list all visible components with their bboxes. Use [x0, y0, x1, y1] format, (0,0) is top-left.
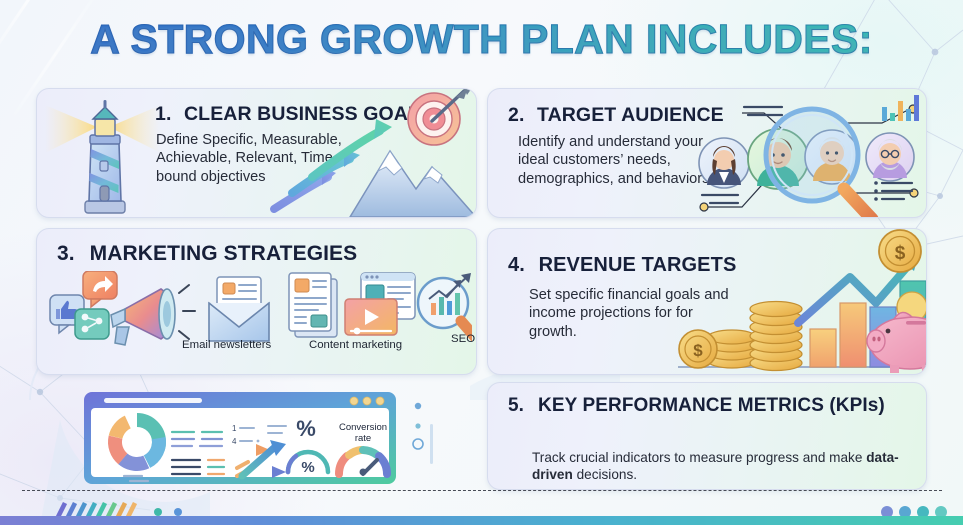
- megaphone-icon: [111, 285, 195, 345]
- magnifying-glass-icon: [766, 109, 872, 218]
- list-number: 4: [232, 437, 237, 446]
- light-streak: [759, 0, 924, 11]
- card-key-performance-metrics[interactable]: 5.KEY PERFORMANCE METRICS (KPIs) Track c…: [487, 382, 927, 490]
- card-4-title: REVENUE TARGETS: [539, 254, 737, 276]
- reply-arrow-icon: [83, 271, 117, 307]
- card-2-number: 2.: [508, 104, 524, 126]
- label-content-marketing: Content marketing: [309, 339, 402, 351]
- card-1-heading: 1. CLEAR BUSINESS GOALS: [155, 103, 433, 126]
- documents-icon: [289, 273, 337, 337]
- card-2-title: TARGET AUDIENCE: [537, 104, 724, 126]
- share-icon: [75, 309, 109, 339]
- bar-chart-icon: [882, 95, 919, 121]
- card-5-body-pre: Track crucial indicators to measure prog…: [532, 450, 866, 465]
- svg-text:%: %: [296, 416, 316, 441]
- dollar-coin-icon: $: [879, 230, 921, 272]
- percent-icon: %: [296, 416, 316, 441]
- card-1-body: Define Specific, Measurable, Achievable,…: [156, 131, 356, 186]
- conversion-rate-label-line2: rate: [355, 433, 371, 444]
- footer-divider: [22, 490, 942, 491]
- card-4-body: Set specific financial goals and income …: [529, 286, 734, 341]
- thumbs-up-icon: [50, 295, 84, 333]
- svg-text:$: $: [895, 243, 906, 264]
- svg-text:%: %: [301, 459, 314, 476]
- card-1-title: CLEAR BUSINESS GOALS: [184, 103, 433, 125]
- infographic-canvas: A STRONG GROWTH PLAN INCLUDES:: [0, 0, 963, 525]
- card-3-number: 3.: [57, 242, 75, 265]
- label-email-newsletters: Email newsletters: [182, 339, 271, 351]
- card-3-heading: 3. MARKETING STRATEGIES: [57, 242, 357, 266]
- label-seo: SEO: [451, 333, 475, 345]
- card-revenue-targets[interactable]: 4. REVENUE TARGETS Set specific financia…: [487, 228, 927, 375]
- card-target-audience[interactable]: 2. TARGET AUDIENCE Identify and understa…: [487, 88, 927, 218]
- conversion-rate-label-line1: Conversion: [339, 422, 387, 433]
- card-5-body: Track crucial indicators to measure prog…: [532, 449, 927, 483]
- card-5-number: 5.: [508, 395, 524, 416]
- card-4-number: 4.: [508, 254, 525, 276]
- decor-dots: [415, 403, 421, 429]
- card-3-title: MARKETING STRATEGIES: [90, 242, 358, 265]
- card-5-title: KEY PERFORMANCE METRICS (KPIs): [538, 395, 885, 416]
- dashboard-illustration: 1 4 % % Conversion rate: [82, 388, 442, 492]
- envelope-icon: [209, 277, 269, 341]
- title-container: A STRONG GROWTH PLAN INCLUDES:: [0, 16, 963, 63]
- card-5-heading: 5.KEY PERFORMANCE METRICS (KPIs): [508, 395, 918, 418]
- svg-text:$: $: [693, 341, 703, 360]
- piggy-bank-icon: [867, 292, 927, 373]
- card-5-body-post: decisions.: [573, 467, 637, 482]
- page-title: A STRONG GROWTH PLAN INCLUDES:: [90, 16, 873, 63]
- lighthouse-icon: [43, 91, 163, 218]
- seo-magnifier-icon: [418, 273, 472, 337]
- card-marketing-strategies[interactable]: 3. MARKETING STRATEGIES: [36, 228, 477, 375]
- card-2-heading: 2. TARGET AUDIENCE: [508, 104, 724, 127]
- card-2-body: Identify and understand your ideal custo…: [518, 133, 718, 188]
- video-player-icon: [345, 273, 415, 335]
- card-clear-business-goals[interactable]: 1. CLEAR BUSINESS GOALS Define Specific,…: [36, 88, 477, 218]
- card-1-number: 1.: [155, 103, 171, 125]
- list-number: 1: [232, 424, 237, 433]
- card-4-heading: 4. REVENUE TARGETS: [508, 254, 736, 277]
- footer-gradient-bar: [0, 516, 963, 525]
